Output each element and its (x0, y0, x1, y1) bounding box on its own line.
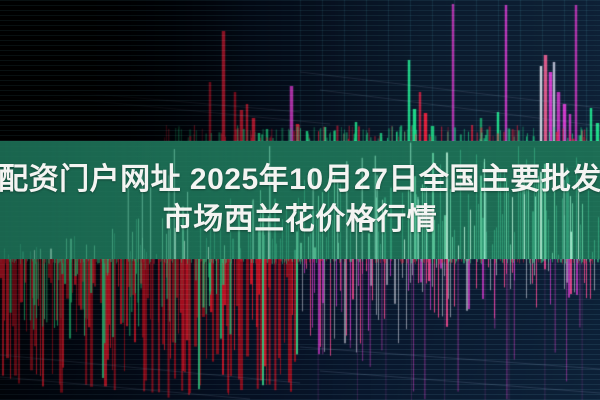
lower-chart-bars (0, 259, 600, 400)
price-banner: 配资门户网址 2025年10月27日全国主要批发 市场西兰花价格行情 (0, 0, 600, 400)
title-band (0, 141, 600, 259)
title-band-bars (0, 141, 600, 259)
lower-chart-region (0, 259, 600, 400)
